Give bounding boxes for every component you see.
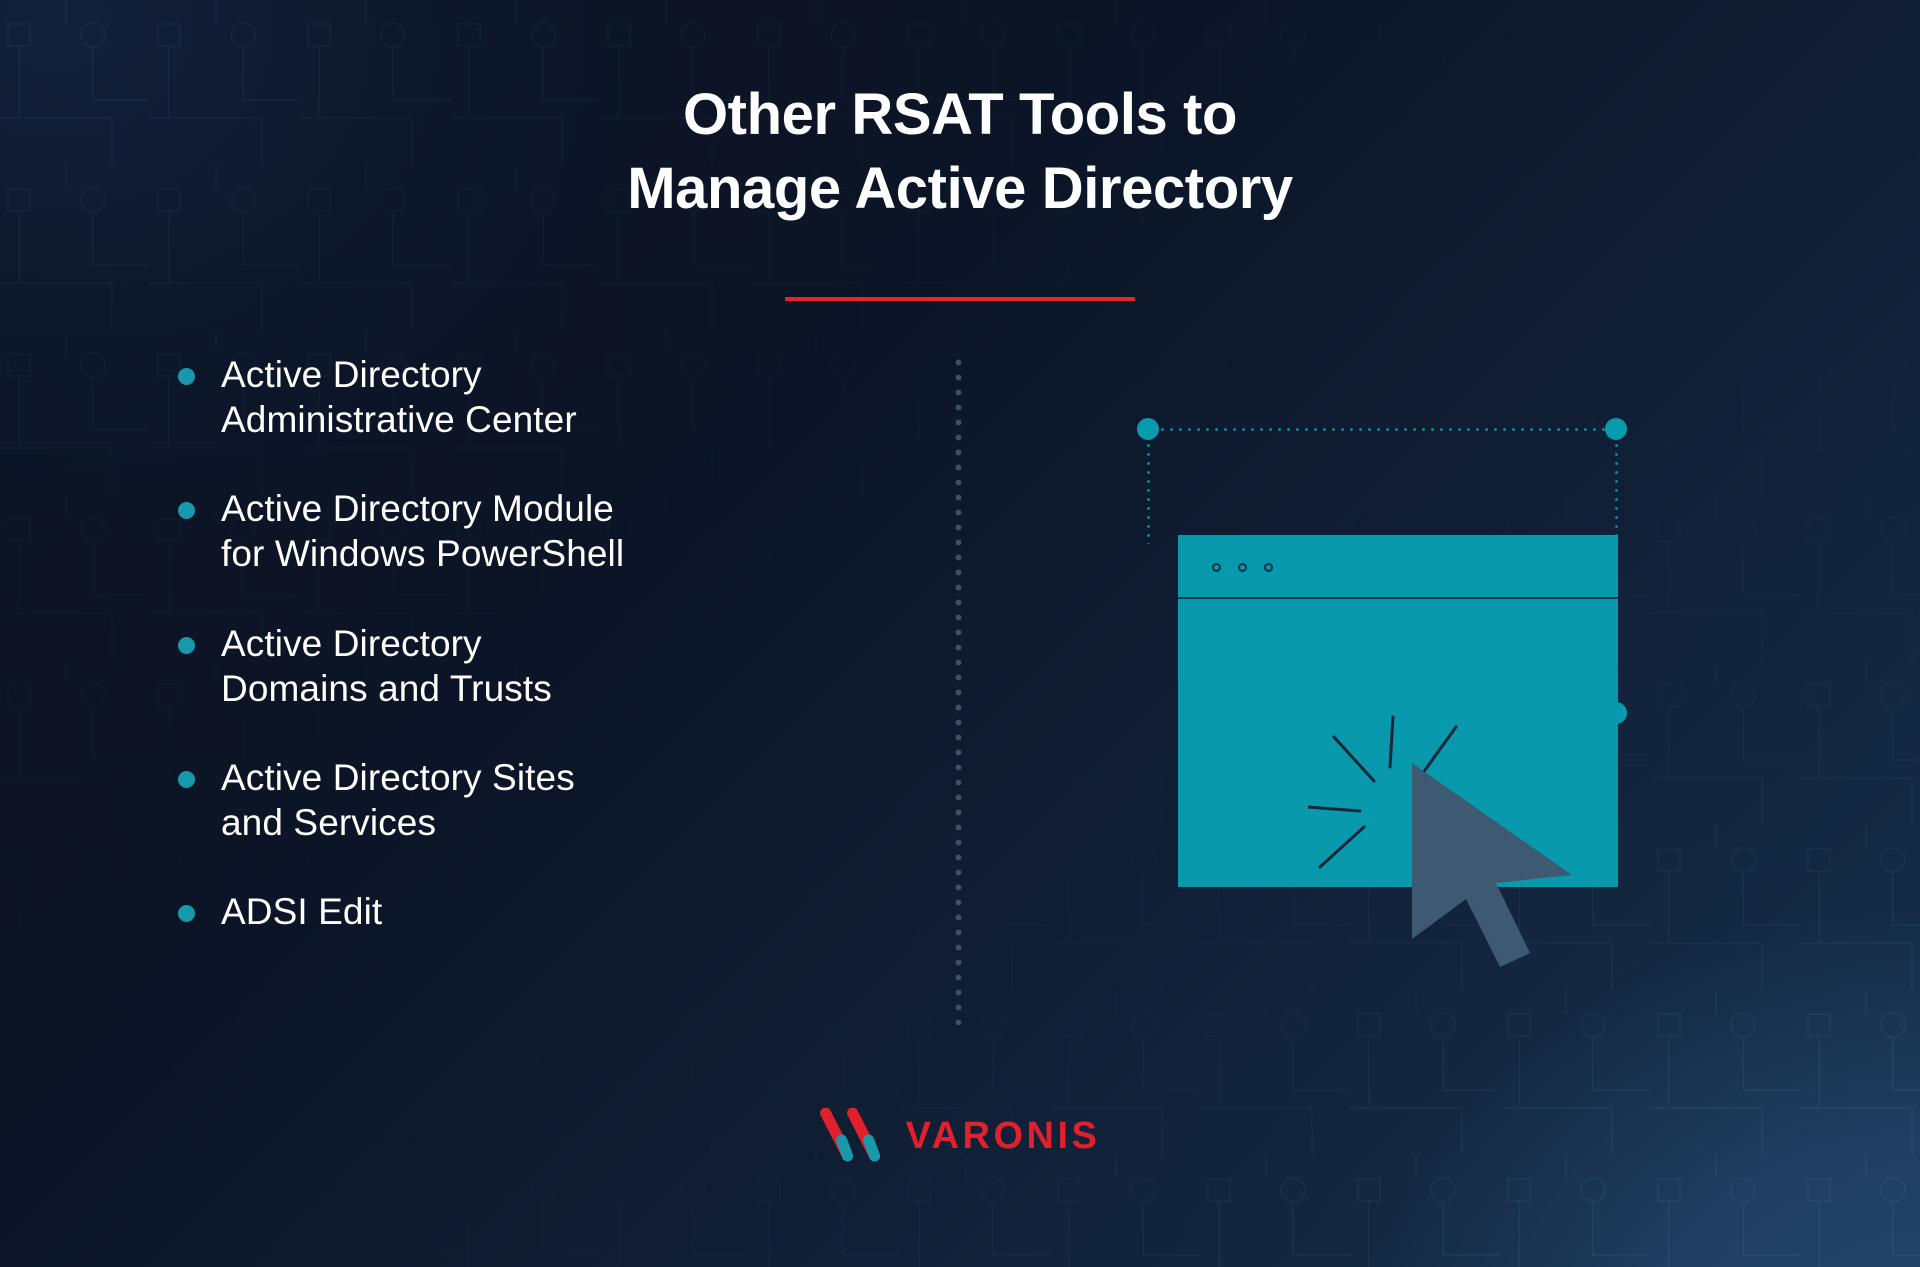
varonis-wordmark: VARONIS (906, 1115, 1101, 1158)
title-accent-rule (785, 297, 1135, 301)
bullet-dot-icon (178, 637, 195, 654)
vertical-dotted-divider (955, 355, 962, 1025)
list-item: ADSI Edit (178, 889, 818, 934)
browser-window-illustration (1150, 430, 1770, 930)
window-control-dot-icon (1212, 563, 1221, 572)
varonis-logo: VARONIS (820, 1108, 1101, 1164)
list-item-label: Active Directory Module for Windows Powe… (221, 486, 624, 576)
title-line-1: Other RSAT Tools to (0, 78, 1920, 152)
bullet-dot-icon (178, 771, 195, 788)
tools-list: Active Directory Administrative Center A… (178, 352, 818, 934)
connector-line-top (1158, 428, 1608, 431)
connector-node-top-right (1605, 418, 1627, 440)
bullet-dot-icon (178, 502, 195, 519)
browser-window (1178, 535, 1618, 887)
list-item: Active Directory Domains and Trusts (178, 621, 818, 711)
window-control-dot-icon (1264, 563, 1273, 572)
slide-canvas: Other RSAT Tools to Manage Active Direct… (0, 0, 1920, 1267)
list-item-label: ADSI Edit (221, 889, 382, 934)
list-item-label: Active Directory Sites and Services (221, 755, 575, 845)
list-item: Active Directory Sites and Services (178, 755, 818, 845)
page-title: Other RSAT Tools to Manage Active Direct… (0, 78, 1920, 226)
connector-line-left (1147, 432, 1150, 544)
list-item-label: Active Directory Administrative Center (221, 352, 577, 442)
connector-node-top-left (1137, 418, 1159, 440)
list-item: Active Directory Administrative Center (178, 352, 818, 442)
mouse-cursor-icon (1404, 757, 1604, 967)
bullet-dot-icon (178, 905, 195, 922)
list-item-label: Active Directory Domains and Trusts (221, 621, 552, 711)
title-line-2: Manage Active Directory (0, 152, 1920, 226)
browser-titlebar (1178, 535, 1618, 599)
bullet-dot-icon (178, 368, 195, 385)
window-control-dot-icon (1238, 563, 1247, 572)
varonis-mark-icon (820, 1108, 892, 1164)
list-item: Active Directory Module for Windows Powe… (178, 486, 818, 576)
